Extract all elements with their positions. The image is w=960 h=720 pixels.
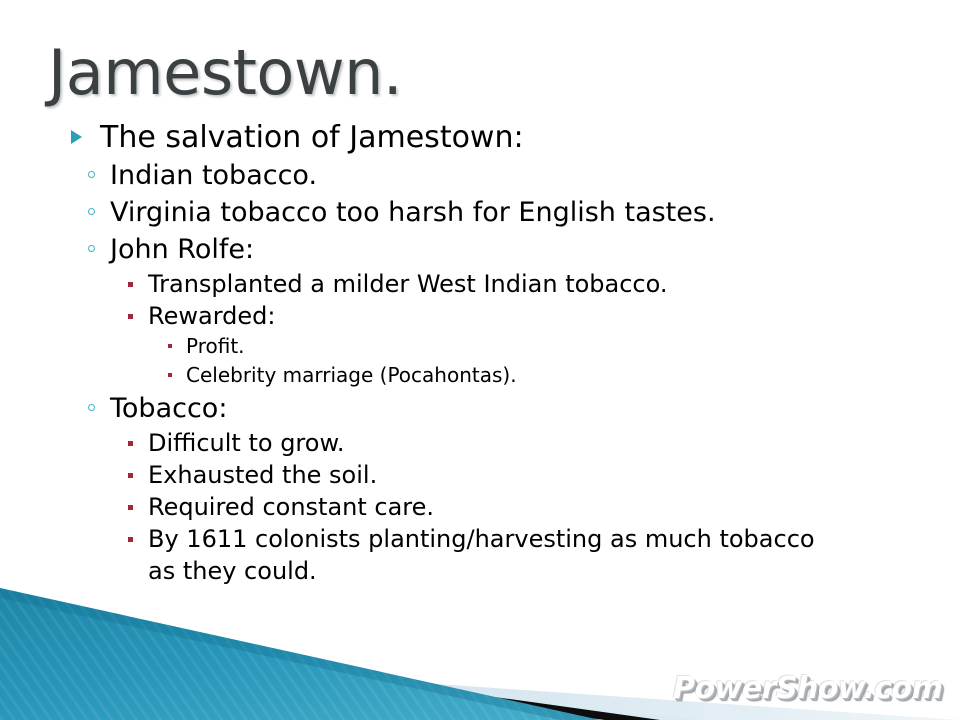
bullet-text: Rewarded: <box>148 300 940 332</box>
bullet-item-level2: Virginia tobacco too harsh for English t… <box>0 194 940 231</box>
slide-title: Jamestown. <box>48 38 402 108</box>
teal-edge-shade <box>0 588 600 720</box>
triangle-right-icon <box>71 130 82 144</box>
bullet-text: Difficult to grow. <box>148 427 940 459</box>
bullet-item-level3: Exhausted the soil. <box>0 459 940 491</box>
pale-blue-band <box>0 642 700 720</box>
bullet-item-level4: Celebrity marriage (Pocahontas). <box>0 361 940 390</box>
bullet-item-level3: Difficult to grow. <box>0 427 940 459</box>
hollow-circle-icon <box>88 208 95 215</box>
bullet-text: Profit. <box>186 332 940 361</box>
bullet-text: Indian tobacco. <box>110 157 940 194</box>
bullet-item-level3: Transplanted a milder West Indian tobacc… <box>0 268 940 300</box>
bullet-item-level3: By 1611 colonists planting/harvesting as… <box>0 523 848 587</box>
bullet-text: The salvation of Jamestown: <box>100 118 940 157</box>
hollow-circle-icon <box>88 245 95 252</box>
teal-triangle <box>0 588 600 720</box>
bullet-item-level3: Rewarded: <box>0 300 940 332</box>
presentation-slide: Jamestown. The salvation of Jamestown: I… <box>0 0 960 720</box>
small-square-icon <box>128 537 133 542</box>
bullet-text: Transplanted a milder West Indian tobacc… <box>148 268 940 300</box>
bullet-text: Virginia tobacco too harsh for English t… <box>110 194 940 231</box>
bullet-text: Celebrity marriage (Pocahontas). <box>186 361 940 390</box>
bullet-item-level3: Required constant care. <box>0 491 940 523</box>
small-square-icon <box>128 282 133 287</box>
bullet-text: Exhausted the soil. <box>148 459 940 491</box>
small-square-icon <box>128 441 133 446</box>
small-square-icon <box>168 373 172 377</box>
small-square-icon <box>128 473 133 478</box>
bullet-item-level2: Tobacco: <box>0 390 940 427</box>
small-square-icon <box>128 314 133 319</box>
teal-triangle-texture <box>0 588 600 720</box>
slide-body-content: The salvation of Jamestown: Indian tobac… <box>0 118 940 587</box>
hollow-circle-icon <box>88 404 95 411</box>
powershow-watermark: PowerShow.com <box>673 671 942 706</box>
bullet-text: John Rolfe: <box>110 231 940 268</box>
bullet-item-level2: Indian tobacco. <box>0 157 940 194</box>
bullet-item-level4: Profit. <box>0 332 940 361</box>
black-diagonal-stripe <box>0 628 660 720</box>
hollow-circle-icon <box>88 171 95 178</box>
bullet-text: Tobacco: <box>110 390 940 427</box>
bullet-text: By 1611 colonists planting/harvesting as… <box>148 523 848 587</box>
bullet-item-level2: John Rolfe: <box>0 231 940 268</box>
small-square-icon <box>168 344 172 348</box>
bullet-item-level1: The salvation of Jamestown: <box>0 118 940 157</box>
small-square-icon <box>128 505 133 510</box>
bullet-text: Required constant care. <box>148 491 940 523</box>
